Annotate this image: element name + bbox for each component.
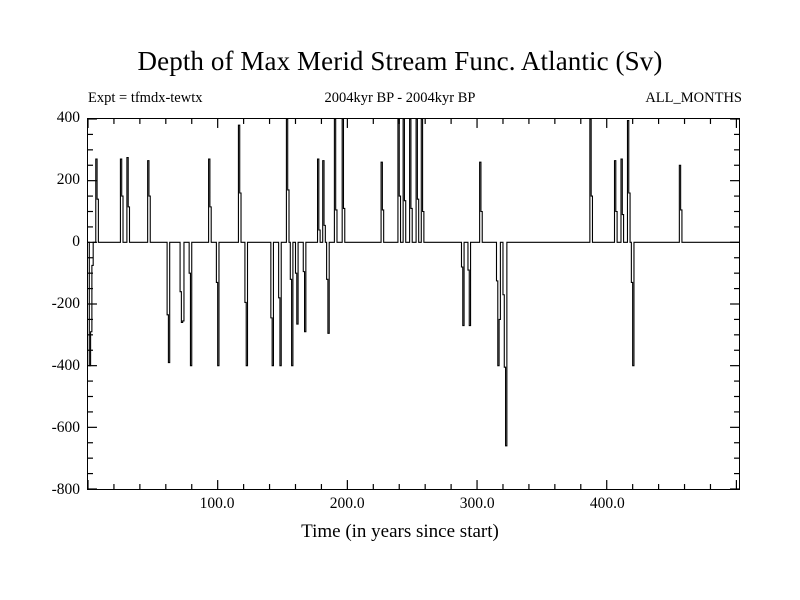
x-tick-label: 200.0 — [330, 496, 365, 512]
y-tick-label: 400 — [10, 110, 80, 126]
data-series-line — [88, 119, 739, 489]
y-tick-label: -800 — [10, 482, 80, 498]
y-axis-tick-labels: 4002000-200-400-600-800 — [8, 118, 80, 490]
y-tick-label: -600 — [10, 420, 80, 436]
x-tick-label: 400.0 — [590, 496, 625, 512]
y-tick-label: 0 — [10, 234, 80, 250]
y-tick-label: -200 — [10, 296, 80, 312]
x-axis-title: Time (in years since start) — [0, 521, 800, 543]
page-title: Depth of Max Merid Stream Func. Atlantic… — [0, 46, 800, 77]
x-tick-label: 300.0 — [460, 496, 495, 512]
y-tick-label: 200 — [10, 172, 80, 188]
x-axis-tick-labels: 100.0200.0300.0400.0 — [87, 496, 740, 518]
y-tick-label: -400 — [10, 358, 80, 374]
subtitle-months: ALL_MONTHS — [645, 90, 742, 108]
chart-container: Depth of Max Merid Stream Func. Atlantic… — [0, 0, 800, 600]
plot-frame — [87, 118, 740, 490]
x-tick-label: 100.0 — [200, 496, 235, 512]
data-line — [88, 119, 739, 446]
